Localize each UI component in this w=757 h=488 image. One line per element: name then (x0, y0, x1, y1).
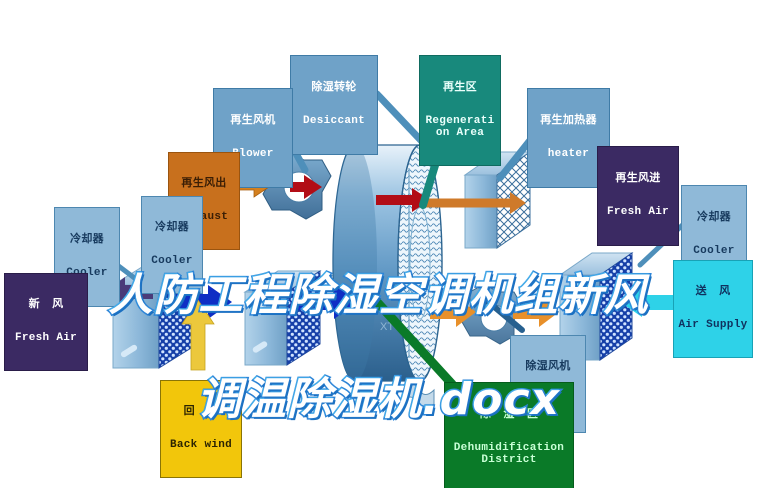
label-dehumidification-district-cn: 除 湿 区 (447, 409, 571, 420)
label-air-supply-cn: 送 风 (676, 286, 750, 297)
diagram-canvas: XT (0, 0, 757, 488)
label-fresh-air-in-cn: 新 风 (7, 299, 85, 310)
label-regeneration-fresh-air-en: Fresh Air (600, 207, 676, 218)
label-back-wind-en: Back wind (163, 440, 239, 451)
label-desiccant-rotor-en: Desiccant (293, 116, 375, 127)
label-dehumidification-district: 除 湿 区 Dehumidification District (444, 382, 574, 488)
label-regeneration-blower-cn: 再生风机 (216, 115, 290, 126)
label-dehumidification-district-en: Dehumidification District (447, 443, 571, 466)
label-desiccant-rotor: 除湿转轮 Desiccant (290, 55, 378, 155)
label-air-supply: 送 风 Air Supply (673, 260, 753, 358)
label-desiccant-rotor-cn: 除湿转轮 (293, 82, 375, 93)
label-back-wind: 回 风 Back wind (160, 380, 242, 478)
label-cooler-left-lower-en: Cooler (144, 256, 200, 267)
label-cooler-left-upper-cn: 冷却器 (57, 234, 117, 245)
reheat-coil (245, 271, 320, 365)
label-cooler-right-en: Cooler (684, 246, 744, 257)
label-back-wind-cn: 回 风 (163, 406, 239, 417)
label-cooler-right-cn: 冷却器 (684, 212, 744, 223)
label-regeneration-area-en: Regenerati on Area (422, 116, 498, 139)
label-regeneration-area: 再生区 Regenerati on Area (419, 55, 501, 166)
label-fresh-air-in: 新 风 Fresh Air (4, 273, 88, 371)
label-cooler-left-lower: 冷却器 Cooler (141, 196, 203, 294)
label-cooler-left-lower-cn: 冷却器 (144, 222, 200, 233)
label-regeneration-area-cn: 再生区 (422, 82, 498, 93)
label-regeneration-heater-cn: 再生加热器 (530, 115, 607, 126)
label-regeneration-fresh-air-cn: 再生风进 (600, 173, 676, 184)
label-fresh-air-in-en: Fresh Air (7, 333, 85, 344)
label-exhaust-cn: 再生风出 (171, 178, 237, 189)
label-air-supply-en: Air Supply (676, 320, 750, 331)
label-regeneration-fresh-air: 再生风进 Fresh Air (597, 146, 679, 246)
label-dehumidification-blower-cn: 除湿风机 (513, 361, 583, 372)
label-regeneration-heater-en: heater (530, 149, 607, 160)
